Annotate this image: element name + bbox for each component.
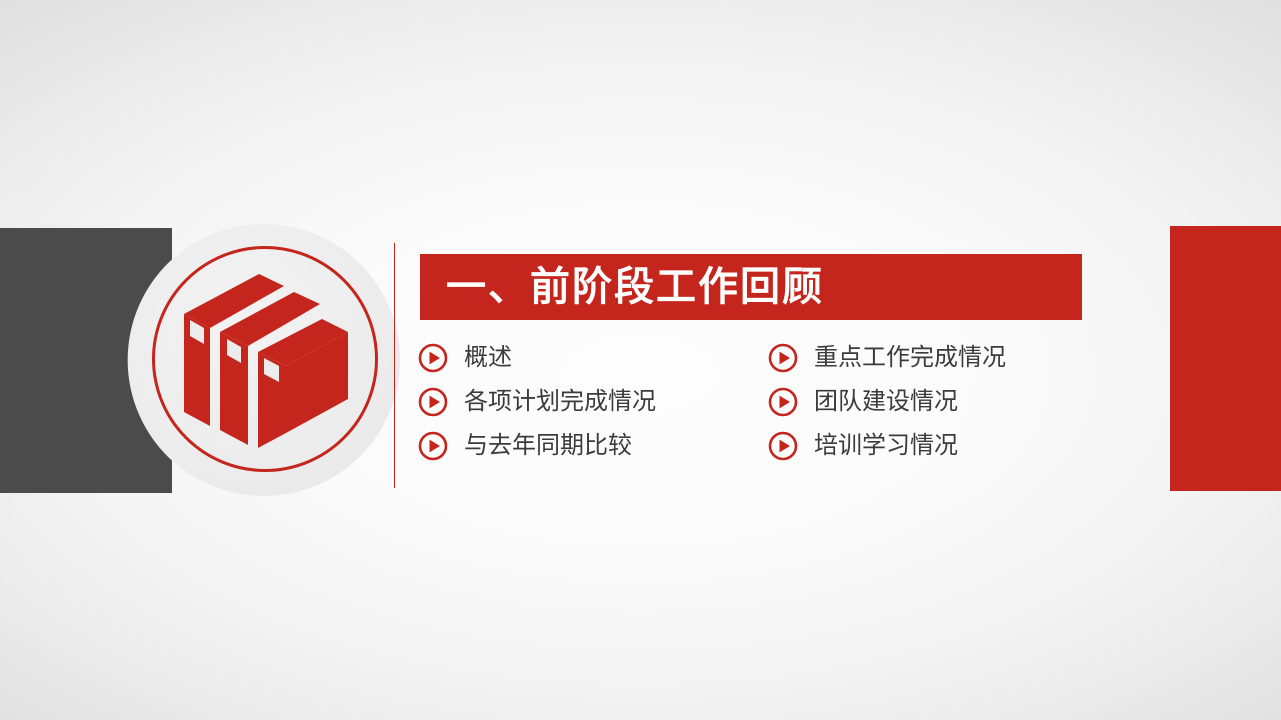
list-item-label: 团队建设情况 — [814, 390, 958, 414]
bullet-column-left: 概述 各项计划完成情况 与去年同期比较 — [418, 336, 768, 468]
list-item[interactable]: 各项计划完成情况 — [418, 380, 768, 424]
stacked-books-icon — [180, 272, 352, 448]
play-circle-icon — [768, 387, 798, 417]
play-circle-icon — [768, 343, 798, 373]
bullet-list-group: 概述 各项计划完成情况 与去年同期比较 — [418, 336, 1118, 468]
list-item[interactable]: 与去年同期比较 — [418, 424, 768, 468]
list-item-label: 培训学习情况 — [814, 434, 958, 458]
bullet-column-right: 重点工作完成情况 团队建设情况 培训学习情况 — [768, 336, 1118, 468]
vertical-divider — [394, 243, 395, 488]
list-item-label: 各项计划完成情况 — [464, 390, 656, 414]
right-decorative-block — [1170, 226, 1281, 491]
list-item-label: 概述 — [464, 346, 512, 370]
list-item-label: 与去年同期比较 — [464, 434, 632, 458]
page-title: 一、前阶段工作回顾 — [420, 267, 824, 307]
section-title-bar: 一、前阶段工作回顾 — [420, 254, 1082, 320]
emblem — [152, 246, 378, 472]
list-item[interactable]: 培训学习情况 — [768, 424, 1118, 468]
list-item-label: 重点工作完成情况 — [814, 346, 1006, 370]
list-item[interactable]: 重点工作完成情况 — [768, 336, 1118, 380]
play-circle-icon — [768, 431, 798, 461]
play-circle-icon — [418, 431, 448, 461]
list-item[interactable]: 概述 — [418, 336, 768, 380]
slide-canvas: 一、前阶段工作回顾 概述 — [0, 0, 1281, 720]
play-circle-icon — [418, 387, 448, 417]
list-item[interactable]: 团队建设情况 — [768, 380, 1118, 424]
play-circle-icon — [418, 343, 448, 373]
